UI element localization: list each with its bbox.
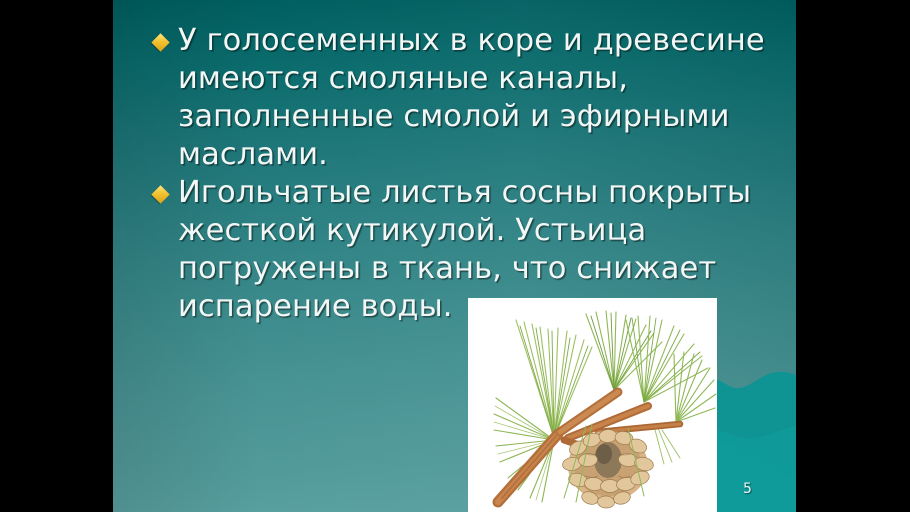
slide-number: 5 bbox=[743, 481, 752, 497]
pine-branch-image bbox=[468, 298, 717, 512]
list-item: У голосеменных в коре и древесине имеютс… bbox=[154, 22, 774, 174]
gold-diamond-bullet-icon bbox=[154, 174, 178, 201]
letterboxed-slide-stage: У голосеменных в коре и древесине имеютс… bbox=[0, 0, 910, 512]
letterbox-bar-left bbox=[0, 0, 113, 512]
bullet-text-1: У голосеменных в коре и древесине имеютс… bbox=[178, 22, 774, 174]
presentation-slide: У голосеменных в коре и древесине имеютс… bbox=[113, 0, 796, 512]
gold-diamond-bullet-icon bbox=[154, 22, 178, 49]
slide-body-text: У голосеменных в коре и древесине имеютс… bbox=[154, 22, 774, 326]
letterbox-bar-right bbox=[796, 0, 910, 512]
